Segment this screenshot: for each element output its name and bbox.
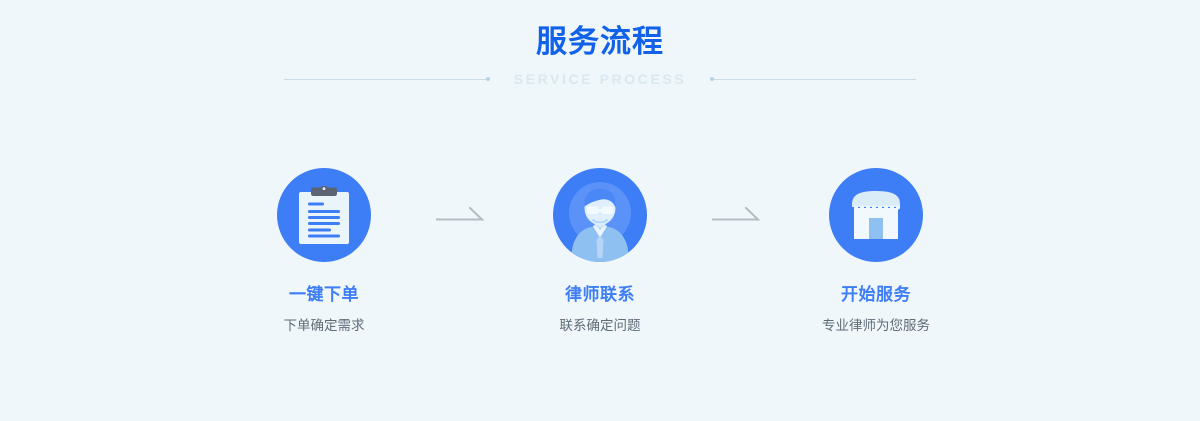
line-dot-left	[486, 77, 490, 81]
page-subtitle: SERVICE PROCESS	[514, 70, 687, 88]
process-step-1[interactable]: 一键下单 下单确定需求	[234, 168, 414, 335]
connector-2	[690, 168, 786, 262]
step-2-icon-circle	[553, 168, 647, 262]
line-dot-right	[710, 77, 714, 81]
arrow-right-icon	[712, 204, 764, 226]
process-step-2[interactable]: 律师联系 联系确定问题	[510, 168, 690, 335]
step-1-title: 一键下单	[289, 284, 359, 306]
arrow-right-icon	[436, 204, 488, 226]
decorative-line-left	[284, 79, 488, 80]
step-1-description: 下单确定需求	[284, 317, 365, 335]
lawyer-person-icon	[553, 168, 647, 262]
step-3-icon-circle	[829, 168, 923, 262]
process-step-3[interactable]: 开始服务 专业律师为您服务	[786, 168, 966, 335]
process-steps: 一键下单 下单确定需求	[0, 168, 1200, 335]
subtitle-row: SERVICE PROCESS	[0, 68, 1200, 90]
page-title: 服务流程	[0, 22, 1200, 62]
connector-1	[414, 168, 510, 262]
decorative-line-right	[712, 79, 916, 80]
step-2-description: 联系确定问题	[560, 317, 641, 335]
service-process-section: 服务流程 SERVICE PROCESS	[0, 0, 1200, 421]
step-2-title: 律师联系	[565, 284, 635, 306]
section-header: 服务流程 SERVICE PROCESS	[0, 0, 1200, 90]
step-3-title: 开始服务	[841, 284, 911, 306]
step-1-icon-circle	[277, 168, 371, 262]
clipboard-icon	[297, 186, 351, 244]
storefront-icon	[848, 190, 904, 240]
step-3-description: 专业律师为您服务	[822, 317, 930, 335]
